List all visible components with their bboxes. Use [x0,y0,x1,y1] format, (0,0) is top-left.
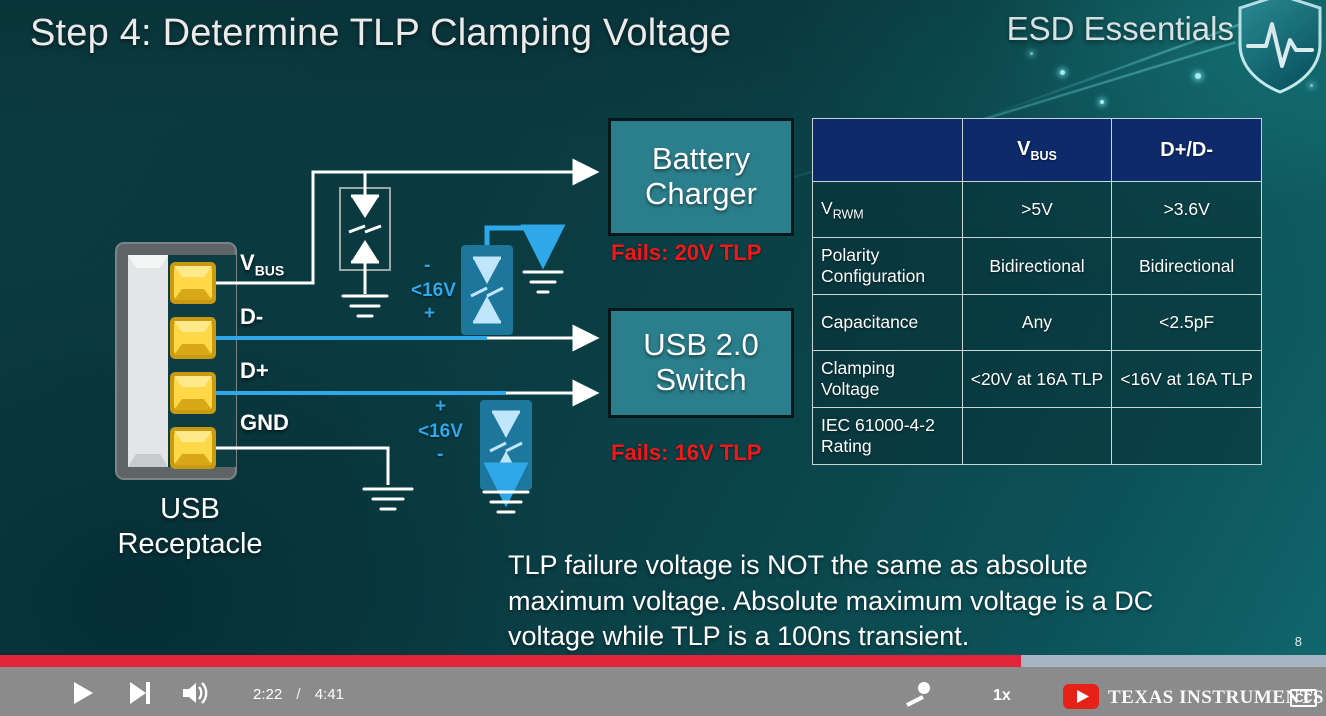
pin-label-gnd: GND [240,410,289,436]
cell-polarity-ddm: Bidirectional [1112,238,1262,295]
usb-receptacle-caption-line1: USB [95,492,285,527]
requirements-table: VBUS D+/D- VRWM >5V >3.6V Polarity Confi… [812,118,1262,465]
glow-dot [1030,52,1033,55]
block-battery-charger-line2: Charger [645,177,757,212]
pin-label-vbus-sub: BUS [255,262,285,278]
video-player-stage: Step 4: Determine TLP Clamping Voltage E… [0,0,1326,716]
diagram-wires [0,0,820,655]
row-label-vrwm: VRWM [813,182,963,238]
usb-receptacle-caption: USB Receptacle [95,492,285,562]
glow-streak [700,41,1236,207]
tvs-lower-sign-top: + [435,396,446,418]
block-usb-switch-line2: Switch [655,363,746,398]
total-time: 4:41 [315,686,344,703]
cell-vrwm-vbus: >5V [962,182,1112,238]
table-header-vbus: VBUS [962,119,1112,182]
tvs-lower-rating: <16V [418,421,463,443]
glow-dot [1243,127,1247,131]
glow-dot [1258,38,1261,41]
video-controls-bar: 2:22 / 4:41 1x TEXAS INSTRUMENTS CC [0,655,1326,716]
row-label-polarity: Polarity Configuration [813,238,963,295]
fail-note-battery-charger: Fails: 20V TLP [611,240,761,266]
glow-dot [1060,70,1065,75]
slide-page-number: 8 [1295,634,1302,649]
page-title: Step 4: Determine TLP Clamping Voltage [30,12,731,55]
usb-receptacle-caption-line2: Receptacle [95,527,285,562]
pin-label-dminus: D- [240,304,263,330]
cell-capacitance-vbus: Any [962,295,1112,351]
block-battery-charger-line1: Battery [652,142,750,177]
volume-icon[interactable] [182,681,210,705]
table-row: Capacitance Any <2.5pF [813,295,1262,351]
glow-dot [1143,140,1146,143]
youtube-logo-icon[interactable] [1063,684,1099,709]
circuit-diagram: VBUS D- D+ GND Battery Charger Fails: 20… [0,0,820,655]
fail-note-usb-switch: Fails: 16V TLP [611,440,761,466]
table-header-blank [813,119,963,182]
table-header-ddm: D+/D- [1112,119,1262,182]
slide-caption: TLP failure voltage is NOT the same as a… [508,548,1198,655]
tvs-upper-sign-bottom: + [424,303,435,325]
tvs-upper-sign-top: - [424,255,430,277]
progress-bar-fill[interactable] [0,655,1021,667]
cell-polarity-vbus: Bidirectional [962,238,1112,295]
pin-label-dplus: D+ [240,358,269,384]
cell-clamping-ddm: <16V at 16A TLP [1112,351,1262,408]
glow-dot [1310,84,1313,87]
brand-label: ESD Essentials [1007,10,1234,48]
controls-row: 2:22 / 4:41 1x TEXAS INSTRUMENTS CC [0,667,1326,716]
row-label-clamping: Clamping Voltage [813,351,963,408]
next-track-icon[interactable] [128,681,152,705]
timecode-display: 2:22 / 4:41 [253,686,344,703]
cell-iec-ddm [1112,408,1262,465]
playback-speed-label[interactable]: 1x [993,687,1011,705]
block-battery-charger: Battery Charger [608,118,794,236]
slide-canvas: Step 4: Determine TLP Clamping Voltage E… [0,0,1326,655]
table-row: Polarity Configuration Bidirectional Bid… [813,238,1262,295]
pin-label-vbus: VBUS [240,250,284,278]
progress-bar-track[interactable] [0,655,1326,667]
closed-captions-button[interactable]: CC [1290,689,1317,707]
tvs-upper-rating: <16V [411,280,456,302]
table-header-row: VBUS D+/D- [813,119,1262,182]
shield-pulse-icon [1234,0,1326,96]
row-label-capacitance: Capacitance [813,295,963,351]
cell-capacitance-ddm: <2.5pF [1112,295,1262,351]
glow-streak [980,5,1291,120]
current-time: 2:22 [253,686,282,703]
cell-vrwm-ddm: >3.6V [1112,182,1262,238]
glow-dot [1195,73,1201,79]
table-header-vbus-sub: BUS [1030,149,1056,163]
row-label-iec: IEC 61000-4-2 Rating [813,408,963,465]
cell-clamping-vbus: <20V at 16A TLP [962,351,1112,408]
tvs-lower-sign-bottom: - [437,444,443,466]
table-row: IEC 61000-4-2 Rating [813,408,1262,465]
block-usb-switch-line1: USB 2.0 [643,328,758,363]
settings-gear-icon[interactable] [905,681,933,707]
table-row: Clamping Voltage <20V at 16A TLP <16V at… [813,351,1262,408]
block-usb-switch: USB 2.0 Switch [608,308,794,418]
cell-iec-vbus [962,408,1112,465]
play-icon[interactable] [72,681,94,705]
time-separator: / [286,686,310,703]
table-row: VRWM >5V >3.6V [813,182,1262,238]
glow-dot [1100,100,1104,104]
